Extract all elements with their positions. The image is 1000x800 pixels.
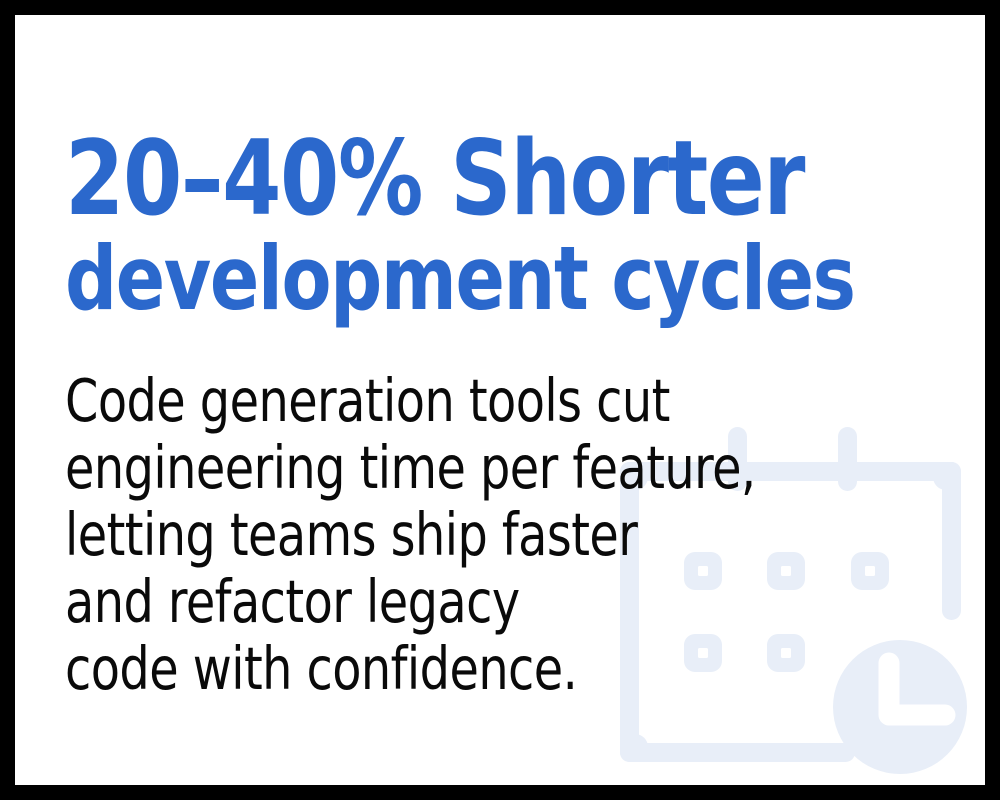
card-content: 20–40% Shorter development cycles Code g… — [15, 15, 985, 785]
headline-line-primary: 20–40% Shorter — [65, 125, 875, 233]
body-line: and refactor legacy — [65, 568, 857, 635]
stat-card: 20–40% Shorter development cycles Code g… — [15, 15, 985, 785]
headline: 20–40% Shorter development cycles — [65, 125, 945, 325]
headline-line-secondary: development cycles — [65, 233, 875, 325]
stat-card-frame: 20–40% Shorter development cycles Code g… — [0, 0, 1000, 800]
body-line: Code generation tools cut — [65, 367, 857, 434]
body-line: engineering time per feature, — [65, 434, 857, 501]
body-line: code with confidence. — [65, 635, 857, 702]
body-copy: Code generation tools cut engineering ti… — [65, 367, 945, 702]
body-line: letting teams ship faster — [65, 501, 857, 568]
